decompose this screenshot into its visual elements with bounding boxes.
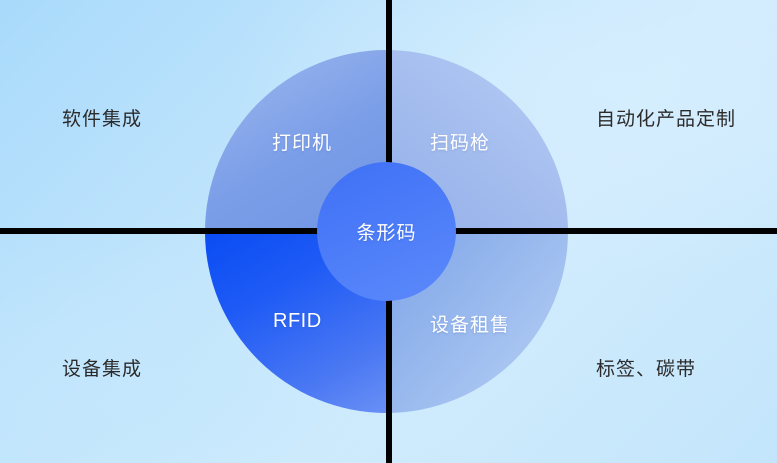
quadrant-label-equipment-rental: 设备租售 xyxy=(430,310,510,337)
quadrant-label-rfid: RFID xyxy=(273,310,322,333)
diagram-canvas: 打印机 扫码枪 RFID 设备租售 条形码 软件集成 自动化产品定制 设备集成 … xyxy=(0,0,777,463)
corner-label-automation-customization: 自动化产品定制 xyxy=(596,104,736,131)
center-circle-label: 条形码 xyxy=(356,218,416,245)
corner-label-device-integration: 设备集成 xyxy=(62,354,142,381)
corner-label-labels-ribbons: 标签、碳带 xyxy=(596,354,696,381)
quadrant-label-printer: 打印机 xyxy=(272,128,332,155)
quadrant-label-scanner: 扫码枪 xyxy=(430,128,490,155)
corner-label-software-integration: 软件集成 xyxy=(62,104,142,131)
center-circle[interactable]: 条形码 xyxy=(317,162,456,301)
